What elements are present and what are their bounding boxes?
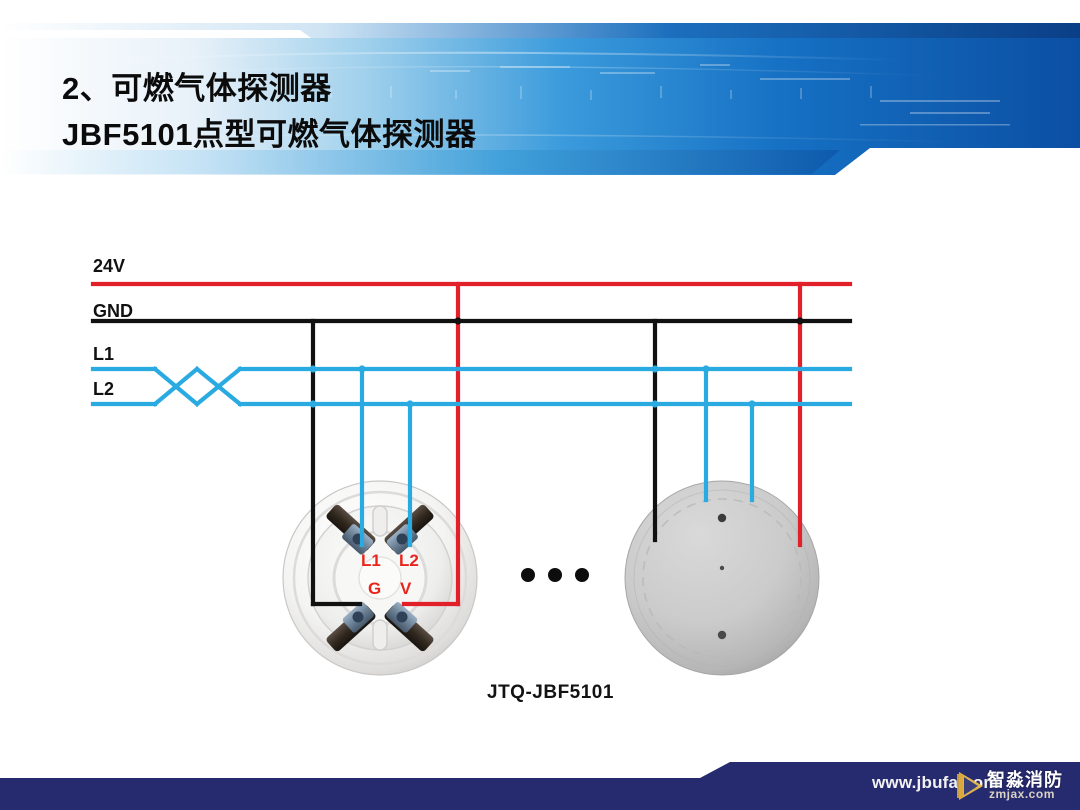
bus-label-l2: L2: [93, 379, 114, 400]
terminal-label-g: G: [368, 579, 381, 599]
bus-label-gnd: GND: [93, 301, 133, 322]
watermark-text-en: zmjax.com: [989, 787, 1055, 801]
terminal-label-v: V: [400, 579, 411, 599]
terminal-label-l2: L2: [399, 551, 419, 571]
continuation-dots: [521, 568, 589, 582]
bus-label-l1: L1: [93, 344, 114, 365]
wire-junctions: [309, 317, 803, 407]
watermark: 智淼消防 zmjax.com: [955, 766, 1080, 806]
device-caption: JTQ-JBF5101: [487, 682, 614, 704]
watermark-logo-icon: [955, 768, 987, 804]
bus-label-24v: 24V: [93, 256, 125, 277]
terminal-label-l1: L1: [361, 551, 381, 571]
